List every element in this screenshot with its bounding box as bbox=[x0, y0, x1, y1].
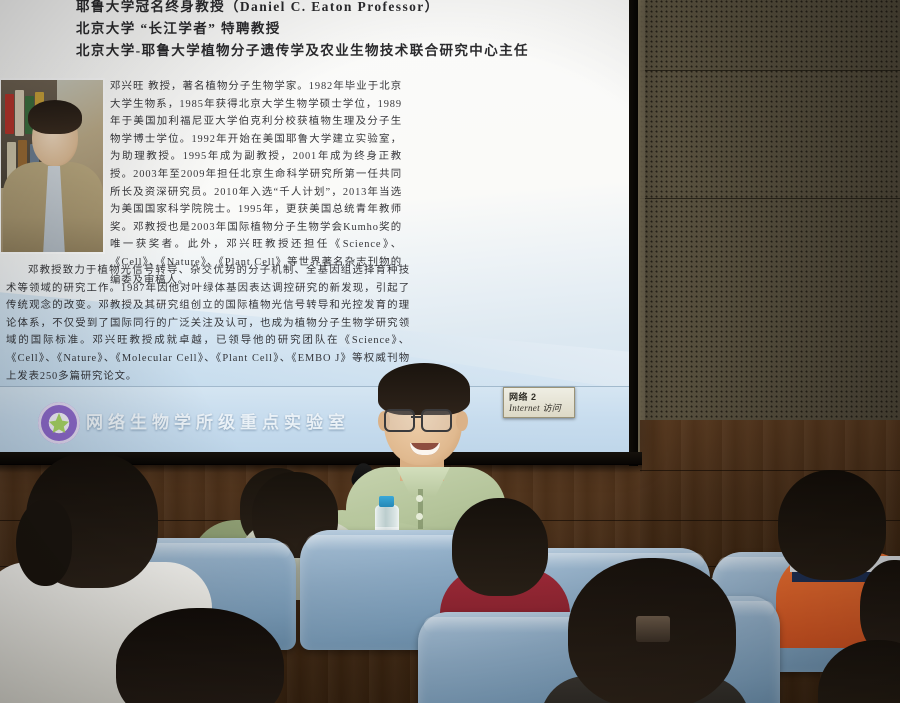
lecture-hall-photo: 耶鲁大学冠名终身教授（Daniel C. Eaton Professor） 北京… bbox=[0, 0, 900, 703]
wood-seam bbox=[640, 470, 900, 471]
presenter-hair bbox=[378, 363, 470, 415]
book-spine bbox=[15, 90, 24, 136]
eyeglasses-bridge bbox=[411, 416, 421, 418]
wall-panel-seam bbox=[640, 70, 900, 71]
eyeglasses-icon bbox=[421, 409, 452, 432]
slide-bio-paragraph: 邓兴旺 教授，著名植物分子生物学家。1982年毕业于北京大学生物系，1985年获… bbox=[110, 78, 402, 289]
speaker-portrait-photo bbox=[1, 80, 103, 252]
slide-header-line-1: 耶鲁大学冠名终身教授（Daniel C. Eaton Professor） bbox=[76, 0, 636, 18]
attendee-hair-strand bbox=[16, 500, 72, 586]
attendee-head bbox=[452, 498, 548, 596]
shirt-button bbox=[416, 495, 423, 502]
presenter-ear bbox=[456, 411, 468, 431]
portrait-hair bbox=[28, 100, 82, 134]
eyeglasses-icon bbox=[384, 409, 415, 432]
screen-frame-right bbox=[629, 0, 638, 466]
hair-clip bbox=[636, 616, 670, 642]
wall-panel-seam bbox=[640, 198, 900, 199]
slide-header-line-3: 北京大学-耶鲁大学植物分子遗传学及农业生物技术联合研究中心主任 bbox=[76, 40, 636, 62]
attendee-head bbox=[778, 470, 886, 580]
slide-header-line-2: 北京大学 “长江学者” 特聘教授 bbox=[76, 18, 636, 40]
lab-emblem-icon bbox=[38, 402, 80, 444]
shirt-button bbox=[416, 513, 423, 520]
bottle-cap bbox=[379, 496, 394, 507]
book-spine bbox=[5, 94, 14, 134]
wall-light-strip bbox=[638, 0, 645, 470]
